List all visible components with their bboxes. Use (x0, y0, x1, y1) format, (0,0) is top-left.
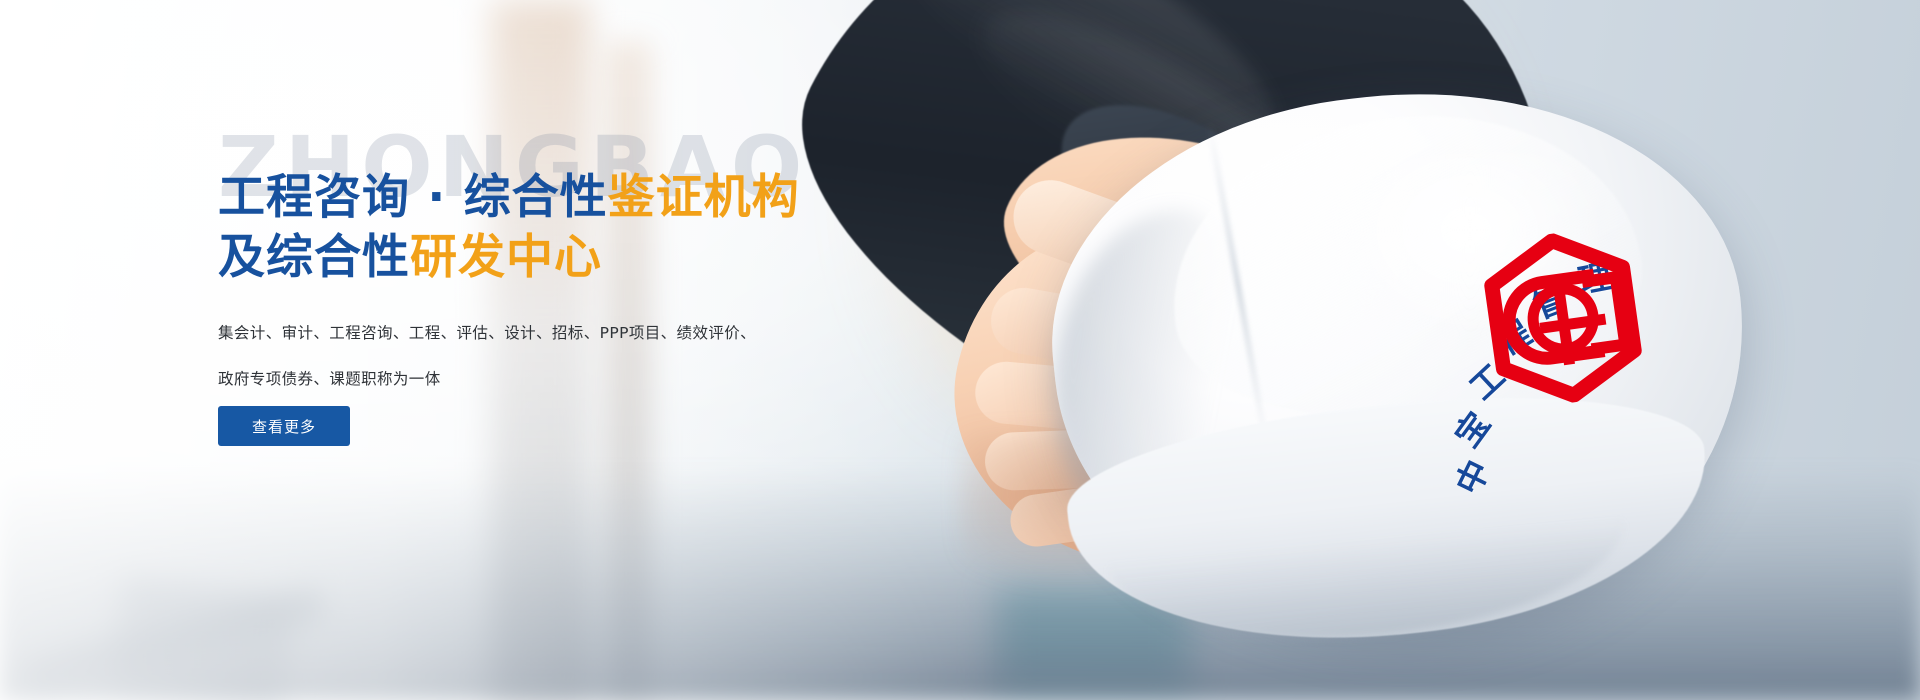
banner-content: ZHONGBAO 工程咨询 · 综合性鉴证机构 及综合性研发中心 集会计、审计、… (218, 0, 978, 700)
hero-banner: 中 宝 工 程 管 理 ZHONGBAO (0, 0, 1920, 700)
headline-line-1-blue: 工程咨询 · 综合性 (218, 170, 608, 225)
description-line-2: 政府专项债券、课题职称为一体 (218, 356, 838, 402)
banner-description: 集会计、审计、工程咨询、工程、评估、设计、招标、PPP项目、绩效评价、 政府专项… (218, 310, 838, 402)
view-more-button[interactable]: 查看更多 (218, 406, 350, 446)
headline-line-1: 工程咨询 · 综合性鉴证机构 (218, 168, 978, 228)
description-line-1: 集会计、审计、工程咨询、工程、评估、设计、招标、PPP项目、绩效评价、 (218, 310, 838, 356)
headline-line-2: 及综合性研发中心 (218, 228, 978, 288)
headline: 工程咨询 · 综合性鉴证机构 及综合性研发中心 (218, 168, 978, 288)
headline-line-2-blue: 及综合性 (218, 230, 410, 285)
headline-line-2-orange: 研发中心 (410, 230, 602, 285)
zhongbao-hexagon-logo-icon (1476, 223, 1650, 412)
headline-line-1-orange: 鉴证机构 (608, 170, 800, 225)
helmet-brand-char: 宝 (1441, 401, 1499, 456)
